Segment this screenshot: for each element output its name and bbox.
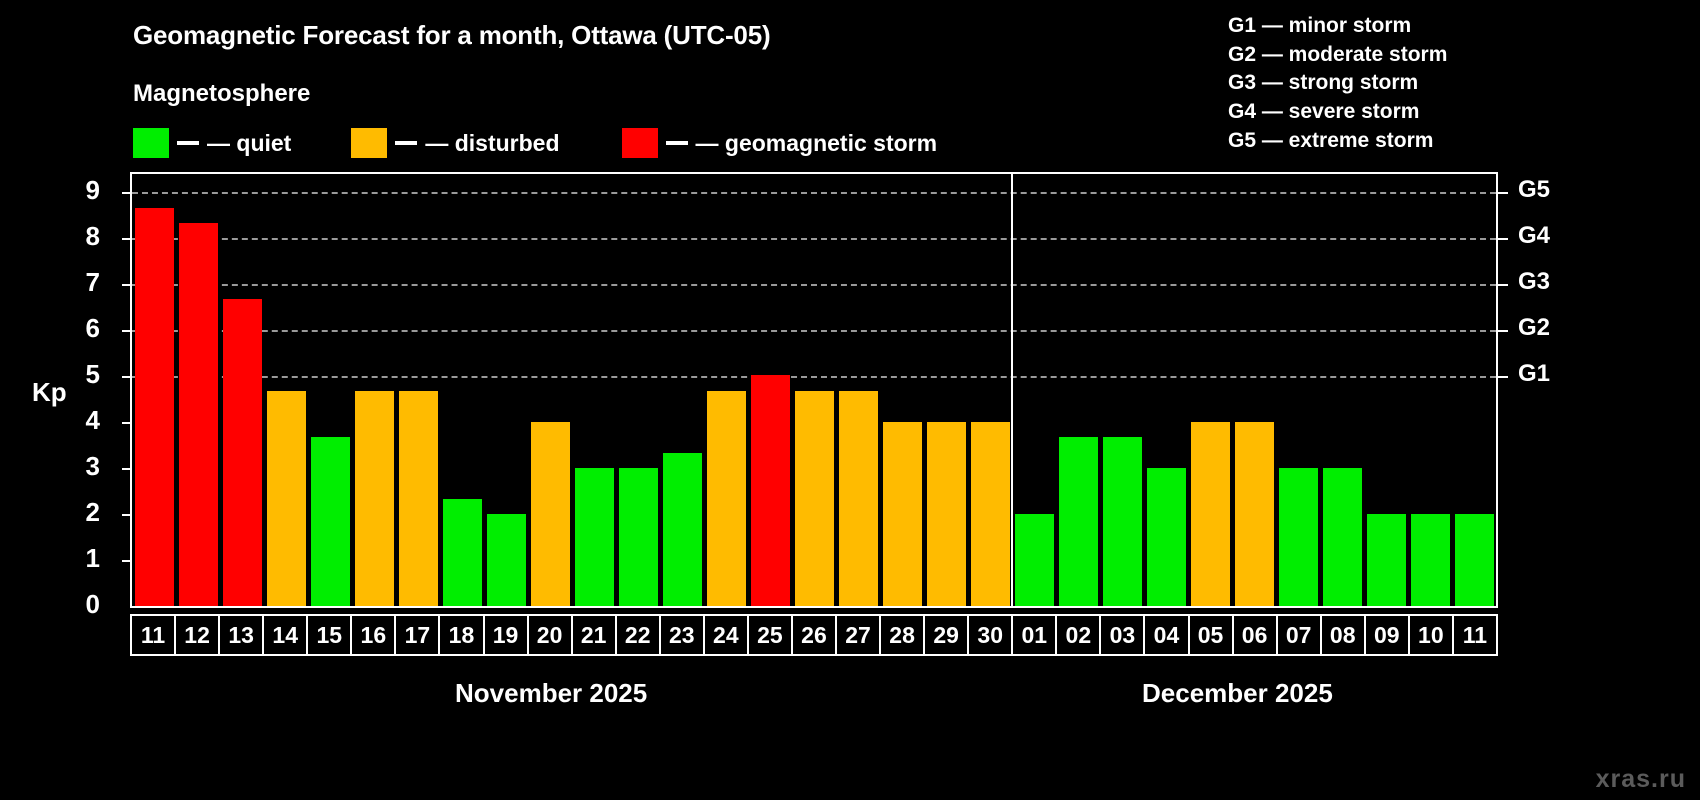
day-label-14: 14 (262, 614, 308, 656)
bar-slot (308, 174, 352, 606)
y-tick-label-2: 2 (60, 497, 100, 528)
green-swatch-icon (133, 128, 169, 158)
day-label-20: 20 (527, 614, 573, 656)
day-label-29: 29 (923, 614, 969, 656)
bar-01 (1015, 514, 1054, 606)
g-tick-g5 (1498, 192, 1508, 194)
legend-dash-icon (395, 141, 417, 145)
bar-slot (1100, 174, 1144, 606)
bar-07 (1279, 468, 1318, 606)
bar-24 (707, 391, 746, 606)
day-label-19: 19 (483, 614, 529, 656)
bar-15 (311, 437, 350, 606)
bar-23 (663, 453, 702, 606)
legend-dash-icon (177, 141, 199, 145)
magnetosphere-legend: — quiet — disturbed — geomagnetic storm (133, 128, 937, 158)
day-label-11: 11 (1452, 614, 1498, 656)
day-label-08: 08 (1320, 614, 1366, 656)
y-tick-label-4: 4 (60, 405, 100, 436)
bar-slot (1408, 174, 1452, 606)
day-label-26: 26 (791, 614, 837, 656)
bar-slot (792, 174, 836, 606)
storm-scale-row-g1: G1 — minor storm (1228, 12, 1447, 40)
bar-11 (1455, 514, 1494, 606)
day-label-04: 04 (1143, 614, 1189, 656)
day-label-06: 06 (1232, 614, 1278, 656)
bar-02 (1059, 437, 1098, 606)
g-tick-g4 (1498, 238, 1508, 240)
y-tick-6 (122, 330, 131, 332)
bar-25 (751, 375, 790, 606)
bar-slot (968, 174, 1012, 606)
bar-28 (883, 422, 922, 606)
day-label-01: 01 (1011, 614, 1057, 656)
day-label-13: 13 (218, 614, 264, 656)
g-tick-label-g5: G5 (1518, 176, 1578, 204)
y-tick-label-1: 1 (60, 543, 100, 574)
bar-04 (1147, 468, 1186, 606)
bar-10 (1411, 514, 1450, 606)
g-tick-g3 (1498, 284, 1508, 286)
day-label-22: 22 (615, 614, 661, 656)
bar-17 (399, 391, 438, 606)
bar-slot (1320, 174, 1364, 606)
day-label-09: 09 (1364, 614, 1410, 656)
y-tick-label-8: 8 (60, 221, 100, 252)
bar-slot (1056, 174, 1100, 606)
day-label-17: 17 (394, 614, 440, 656)
day-label-25: 25 (747, 614, 793, 656)
bar-slot (176, 174, 220, 606)
day-label-21: 21 (571, 614, 617, 656)
y-tick-7 (122, 284, 131, 286)
bar-slot (1232, 174, 1276, 606)
bar-13 (223, 299, 262, 606)
bar-18 (443, 499, 482, 606)
bar-slot (528, 174, 572, 606)
bar-20 (531, 422, 570, 606)
legend-label-disturbed: — disturbed (425, 130, 559, 157)
bar-22 (619, 468, 658, 606)
day-label-18: 18 (438, 614, 484, 656)
orange-swatch-icon (351, 128, 387, 158)
y-tick-label-7: 7 (60, 267, 100, 298)
page-title: Geomagnetic Forecast for a month, Ottawa… (133, 20, 770, 51)
y-tick-4 (122, 422, 131, 424)
bar-03 (1103, 437, 1142, 606)
legend-label-storm: — geomagnetic storm (696, 130, 938, 157)
day-label-15: 15 (306, 614, 352, 656)
bar-slot (616, 174, 660, 606)
day-label-23: 23 (659, 614, 705, 656)
y-tick-1 (122, 560, 131, 562)
storm-scale-row-g4: G4 — severe storm (1228, 98, 1447, 126)
bar-27 (839, 391, 878, 606)
bar-29 (927, 422, 966, 606)
y-tick-label-5: 5 (60, 359, 100, 390)
y-tick-9 (122, 192, 131, 194)
y-tick-5 (122, 376, 131, 378)
g-tick-label-g3: G3 (1518, 268, 1578, 296)
bar-slot (132, 174, 176, 606)
storm-scale-row-g2: G2 — moderate storm (1228, 41, 1447, 69)
day-label-07: 07 (1276, 614, 1322, 656)
day-label-30: 30 (967, 614, 1013, 656)
plot-area (130, 172, 1498, 608)
day-label-05: 05 (1188, 614, 1234, 656)
bar-21 (575, 468, 614, 606)
bar-30 (971, 422, 1010, 606)
red-swatch-icon (622, 128, 658, 158)
bar-slot (396, 174, 440, 606)
legend-item-storm: — geomagnetic storm (622, 128, 938, 158)
bar-14 (267, 391, 306, 606)
storm-scale-row-g3: G3 — strong storm (1228, 69, 1447, 97)
bar-slot (748, 174, 792, 606)
storm-scale-row-g5: G5 — extreme storm (1228, 127, 1447, 155)
day-label-10: 10 (1408, 614, 1454, 656)
bar-16 (355, 391, 394, 606)
bar-slot (1276, 174, 1320, 606)
g-tick-label-g1: G1 (1518, 360, 1578, 388)
bar-slot (1452, 174, 1496, 606)
bar-11 (135, 208, 174, 606)
g-tick-g2 (1498, 330, 1508, 332)
bar-slot (1364, 174, 1408, 606)
bar-slot (352, 174, 396, 606)
bar-19 (487, 514, 526, 606)
y-tick-label-6: 6 (60, 313, 100, 344)
bar-slot (836, 174, 880, 606)
day-label-03: 03 (1099, 614, 1145, 656)
bar-slot (572, 174, 616, 606)
storm-scale-legend: G1 — minor storm G2 — moderate storm G3 … (1228, 12, 1447, 155)
bar-05 (1191, 422, 1230, 606)
day-label-02: 02 (1055, 614, 1101, 656)
bar-slot (924, 174, 968, 606)
bar-slot (660, 174, 704, 606)
bar-slot (1188, 174, 1232, 606)
legend-item-quiet: — quiet (133, 128, 291, 158)
bar-slot (484, 174, 528, 606)
month-divider (1011, 174, 1013, 606)
watermark: xras.ru (1596, 765, 1686, 794)
month-label-november: November 2025 (455, 678, 647, 709)
bar-06 (1235, 422, 1274, 606)
y-tick-label-3: 3 (60, 451, 100, 482)
geomagnetic-forecast-chart: Geomagnetic Forecast for a month, Ottawa… (0, 0, 1700, 800)
bar-slot (220, 174, 264, 606)
legend-dash-icon (666, 141, 688, 145)
y-tick-3 (122, 468, 131, 470)
bar-slot (1012, 174, 1056, 606)
bar-26 (795, 391, 834, 606)
bar-12 (179, 223, 218, 606)
chart-subtitle: Magnetosphere (133, 80, 310, 108)
day-label-24: 24 (703, 614, 749, 656)
bar-slot (880, 174, 924, 606)
y-tick-2 (122, 514, 131, 516)
bar-slot (264, 174, 308, 606)
day-label-27: 27 (835, 614, 881, 656)
legend-label-quiet: — quiet (207, 130, 291, 157)
bar-slot (440, 174, 484, 606)
legend-item-disturbed: — disturbed (351, 128, 559, 158)
day-label-16: 16 (350, 614, 396, 656)
bar-slot (704, 174, 748, 606)
y-tick-label-9: 9 (60, 175, 100, 206)
g-tick-g1 (1498, 376, 1508, 378)
g-tick-label-g4: G4 (1518, 222, 1578, 250)
bar-09 (1367, 514, 1406, 606)
day-label-28: 28 (879, 614, 925, 656)
y-tick-8 (122, 238, 131, 240)
y-tick-label-0: 0 (60, 589, 100, 620)
bar-slot (1144, 174, 1188, 606)
month-label-december: December 2025 (1142, 678, 1333, 709)
bar-series (132, 174, 1496, 606)
day-label-12: 12 (174, 614, 220, 656)
bar-08 (1323, 468, 1362, 606)
day-label-11: 11 (130, 614, 176, 656)
g-tick-label-g2: G2 (1518, 314, 1578, 342)
day-axis: 1112131415161718192021222324252627282930… (130, 614, 1498, 656)
